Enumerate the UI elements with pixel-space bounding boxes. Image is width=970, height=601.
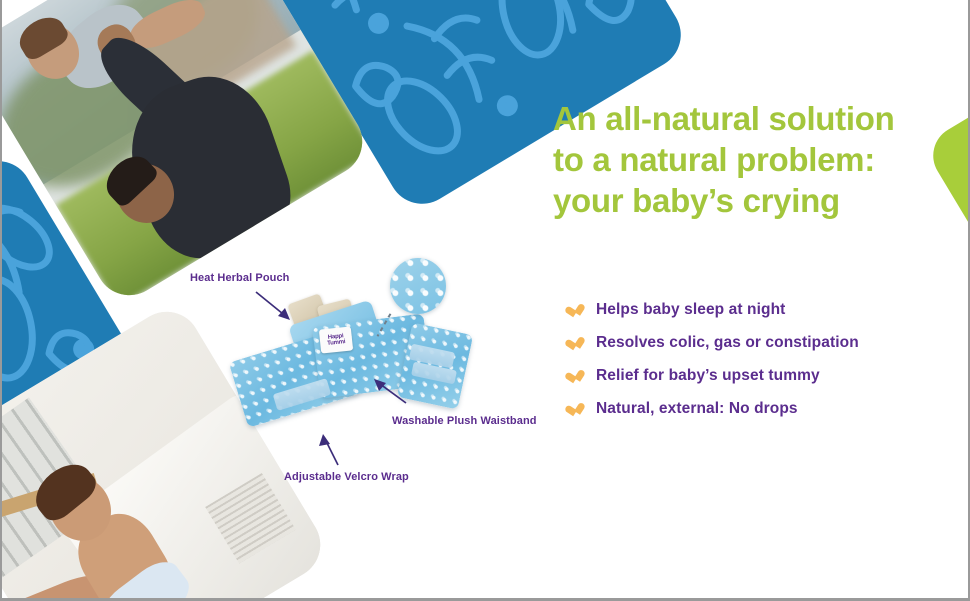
headline-line-2: to a natural problem: — [553, 139, 953, 180]
callout-washable-plush-waistband: Washable Plush Waistband — [392, 415, 537, 427]
benefit-label: Helps baby sleep at night — [596, 300, 785, 319]
product-banner: Happi Tummi Heat Herbal Pouch Washable P… — [0, 0, 970, 601]
callout-heat-herbal-pouch: Heat Herbal Pouch — [190, 272, 290, 284]
benefit-label: Resolves colic, gas or constipation — [596, 333, 859, 352]
product-image-happi-tummi-wrap: Happi Tummi — [234, 300, 466, 432]
benefits-list: Helps baby sleep at night Resolves colic… — [572, 300, 952, 432]
list-item: Helps baby sleep at night — [572, 300, 952, 319]
heart-bullet-icon — [571, 370, 586, 384]
heart-bullet-icon — [571, 403, 586, 417]
list-item: Natural, external: No drops — [572, 399, 952, 418]
brand-label: Happi Tummi — [319, 326, 353, 353]
fabric-texture-magnifier — [390, 258, 446, 314]
arrowhead-velcro — [319, 434, 330, 446]
heart-bullet-icon — [571, 304, 586, 318]
list-item: Resolves colic, gas or constipation — [572, 333, 952, 352]
benefit-label: Relief for baby’s upset tummy — [596, 366, 820, 385]
benefit-label: Natural, external: No drops — [596, 399, 798, 418]
headline-line-1: An all-natural solution — [553, 98, 953, 139]
headline-line-3: your baby’s crying — [553, 180, 953, 221]
list-item: Relief for baby’s upset tummy — [572, 366, 952, 385]
page-title: An all-natural solution to a natural pro… — [553, 98, 953, 221]
callout-adjustable-velcro-wrap: Adjustable Velcro Wrap — [284, 471, 409, 483]
brand-label-text: Happi Tummi — [319, 332, 352, 347]
arrow-to-velcro — [324, 437, 338, 465]
heart-bullet-icon — [571, 337, 586, 351]
